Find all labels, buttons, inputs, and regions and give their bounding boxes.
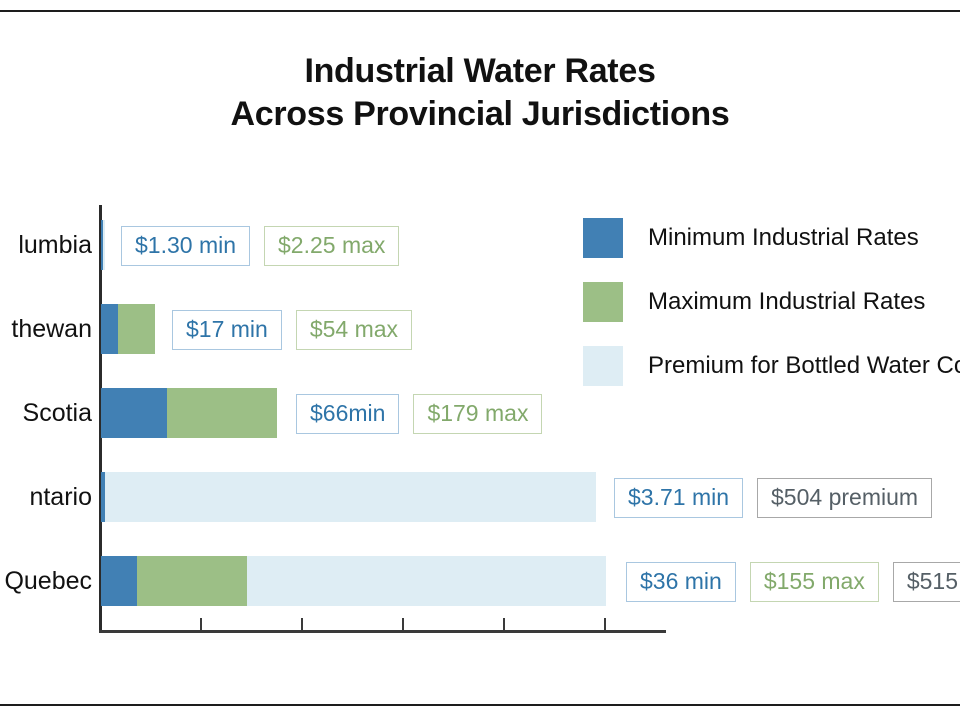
bar-saskatchewan[interactable] xyxy=(101,304,155,354)
bar-segment-minimum xyxy=(101,556,137,606)
data-label-max: $155 max xyxy=(750,562,879,602)
data-labels-quebec: $36 min $155 max $515 premium xyxy=(626,560,960,604)
category-label-ontario: ntario xyxy=(0,458,92,536)
legend-item-premium[interactable]: Premium for Bottled Water Co xyxy=(583,334,960,398)
data-label-premium: $515 premium xyxy=(893,562,960,602)
data-label-max: $54 max xyxy=(296,310,412,350)
bar-segment-maximum xyxy=(118,304,155,354)
data-label-min: $1.30 min xyxy=(121,226,250,266)
data-label-min: $36 min xyxy=(626,562,736,602)
legend-item-maximum[interactable]: Maximum Industrial Rates xyxy=(583,270,960,334)
data-labels-saskatchewan: $17 min $54 max xyxy=(172,308,412,352)
category-label-saskatchewan: thewan xyxy=(0,290,92,368)
data-label-max: $179 max xyxy=(413,394,542,434)
legend-swatch-maximum-icon xyxy=(583,282,623,322)
legend-item-minimum[interactable]: Minimum Industrial Rates xyxy=(583,206,960,270)
data-labels-nova-scotia: $66min $179 max xyxy=(296,392,542,436)
bar-quebec[interactable] xyxy=(101,556,606,606)
slide-canvas: Industrial Water Rates Across Provincial… xyxy=(0,0,960,720)
legend-label-premium: Premium for Bottled Water Co xyxy=(648,352,960,380)
bar-nova-scotia[interactable] xyxy=(101,388,277,438)
data-label-max: $2.25 max xyxy=(264,226,399,266)
data-label-premium: $504 premium xyxy=(757,478,932,518)
bar-british-columbia[interactable] xyxy=(101,220,105,270)
data-labels-ontario: $3.71 min $504 premium xyxy=(614,476,932,520)
bar-segment-premium xyxy=(105,472,596,522)
data-label-min: $17 min xyxy=(172,310,282,350)
data-label-min: $3.71 min xyxy=(614,478,743,518)
x-axis-line xyxy=(99,630,666,633)
bar-segment-minimum xyxy=(101,388,167,438)
bar-segment-maximum xyxy=(137,556,247,606)
legend-label-minimum: Minimum Industrial Rates xyxy=(648,224,919,252)
chart-legend: Minimum Industrial Rates Maximum Industr… xyxy=(583,206,960,398)
chart-row-ontario: ntario $3.71 min $504 premium xyxy=(0,458,960,536)
data-label-min: $66min xyxy=(296,394,399,434)
legend-swatch-minimum-icon xyxy=(583,218,623,258)
bar-segment-maximum xyxy=(167,388,277,438)
chart-row-quebec: Quebec $36 min $155 max $515 premium xyxy=(0,542,960,620)
data-labels-british-columbia: $1.30 min $2.25 max xyxy=(121,224,399,268)
bar-ontario[interactable] xyxy=(101,472,596,522)
bar-segment-premium xyxy=(247,556,606,606)
bar-segment-maximum xyxy=(103,220,105,270)
category-label-quebec: Quebec xyxy=(0,542,92,620)
category-label-british-columbia: lumbia xyxy=(0,206,92,284)
category-label-nova-scotia: Scotia xyxy=(0,374,92,452)
legend-label-maximum: Maximum Industrial Rates xyxy=(648,288,925,316)
legend-swatch-premium-icon xyxy=(583,346,623,386)
bar-segment-minimum xyxy=(101,304,118,354)
